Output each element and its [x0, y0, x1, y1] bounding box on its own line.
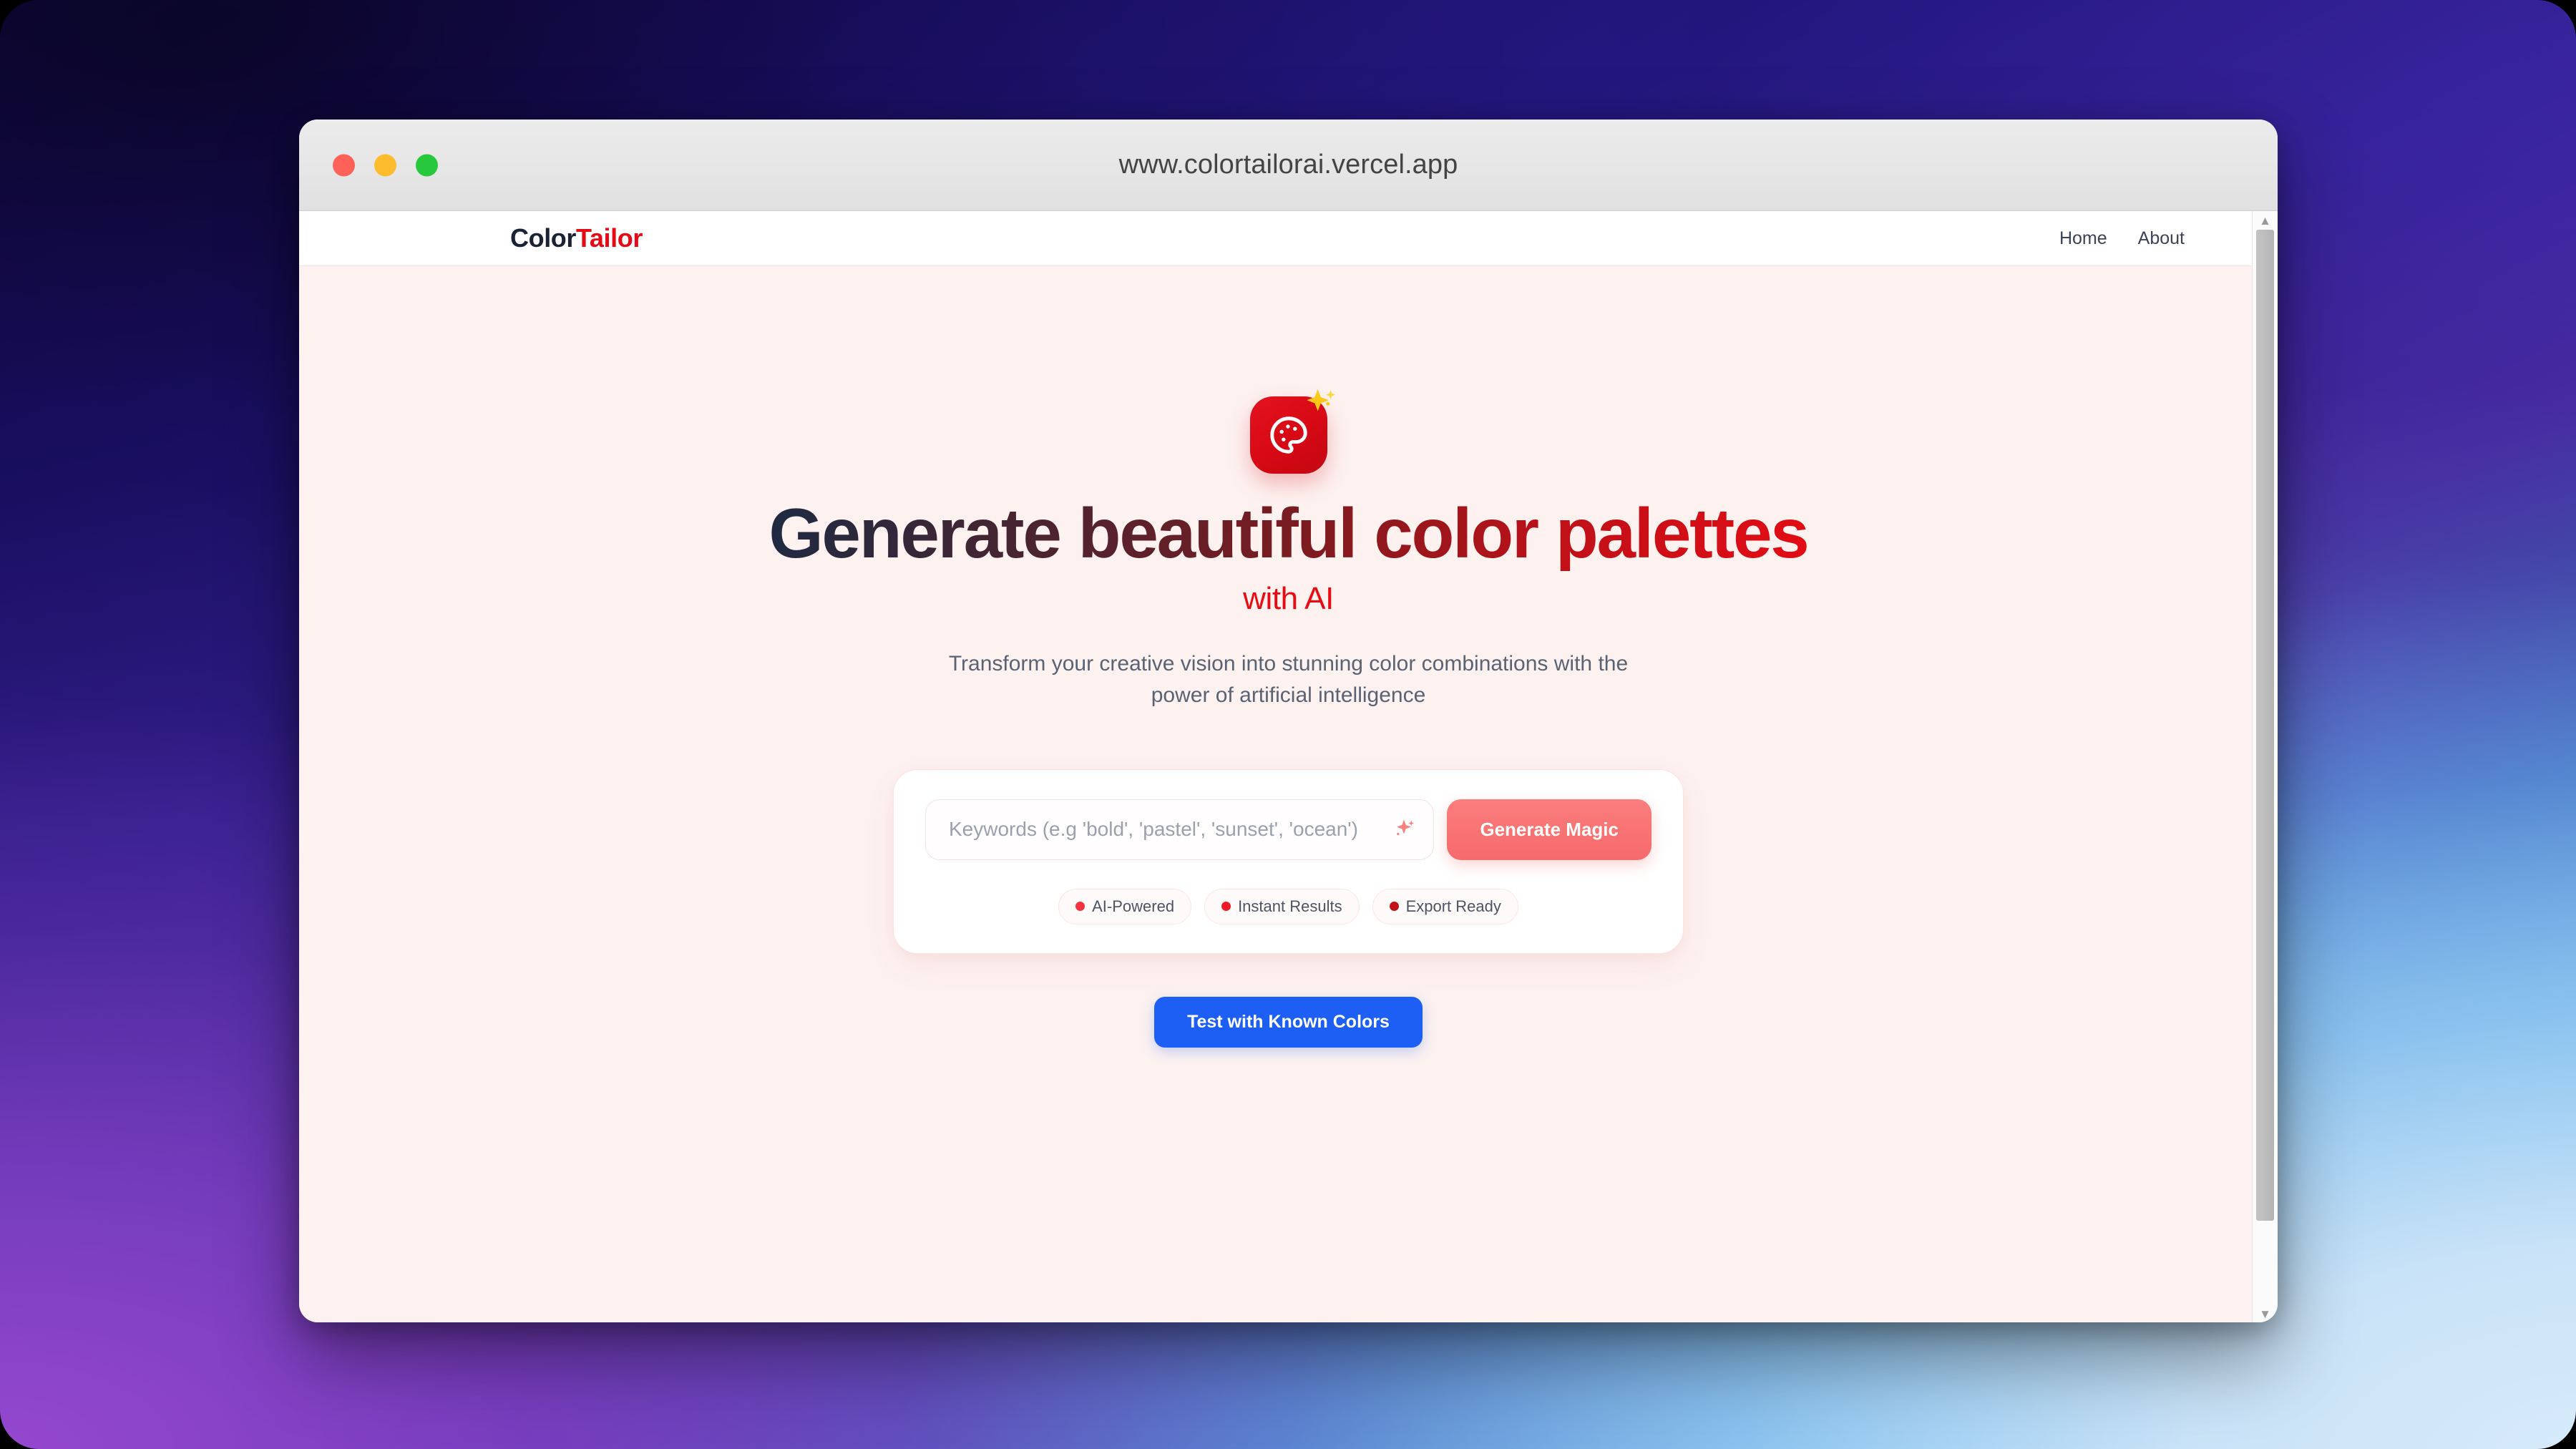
page-title: Generate beautiful color palettes — [769, 497, 1807, 571]
scroll-up-arrow-icon[interactable]: ▲ — [2253, 211, 2278, 230]
traffic-lights — [333, 154, 438, 176]
pill-label: AI-Powered — [1092, 897, 1174, 916]
browser-window: www.colortailorai.vercel.app ColorTailor… — [299, 119, 2278, 1322]
hero-section: Generate beautiful color palettes with A… — [299, 266, 2278, 1048]
nav-link-about[interactable]: About — [2138, 228, 2185, 249]
search-field[interactable] — [925, 799, 1434, 860]
page-viewport: ColorTailor Home About — [299, 211, 2278, 1322]
scroll-down-arrow-icon[interactable]: ▼ — [2253, 1304, 2278, 1322]
page-description: Transform your creative vision into stun… — [938, 648, 1639, 712]
address-bar-title[interactable]: www.colortailorai.vercel.app — [299, 150, 2278, 180]
page-subtitle: with AI — [1243, 581, 1334, 617]
feature-pills: AI-Powered Instant Results Export Ready — [925, 889, 1652, 924]
status-dot — [1075, 902, 1085, 911]
brand-logo-first: Color — [510, 223, 576, 253]
site-navbar: ColorTailor Home About — [299, 211, 2278, 266]
search-input[interactable] — [947, 817, 1383, 841]
hero-icon-wrapper — [1250, 396, 1327, 474]
pill-ai-powered: AI-Powered — [1058, 889, 1191, 924]
brand-logo[interactable]: ColorTailor — [510, 223, 643, 253]
generate-magic-button[interactable]: Generate Magic — [1447, 799, 1652, 860]
pill-instant-results: Instant Results — [1204, 889, 1360, 924]
status-dot — [1390, 902, 1399, 911]
sparkle-icon[interactable] — [1392, 817, 1416, 841]
search-row: Generate Magic — [925, 799, 1652, 860]
pill-export-ready: Export Ready — [1372, 889, 1518, 924]
vertical-scrollbar[interactable]: ▲ ▼ — [2252, 211, 2278, 1322]
nav-link-home[interactable]: Home — [2059, 228, 2107, 249]
pill-label: Export Ready — [1406, 897, 1501, 916]
nav-links: Home About — [2059, 228, 2185, 249]
pill-label: Instant Results — [1238, 897, 1342, 916]
status-dot — [1221, 902, 1231, 911]
test-with-known-colors-button[interactable]: Test with Known Colors — [1154, 997, 1423, 1048]
brand-logo-second: Tailor — [576, 223, 643, 253]
scrollbar-track[interactable] — [2253, 230, 2278, 1304]
minimize-button[interactable] — [374, 154, 396, 176]
desktop: www.colortailorai.vercel.app ColorTailor… — [0, 0, 2576, 1449]
browser-title-bar: www.colortailorai.vercel.app — [299, 119, 2278, 211]
close-button[interactable] — [333, 154, 355, 176]
search-card: Generate Magic AI-Powered Instant Result… — [893, 769, 1684, 954]
scrollbar-thumb[interactable] — [2256, 230, 2274, 1221]
maximize-button[interactable] — [416, 154, 438, 176]
sparkle-icon — [1301, 385, 1340, 424]
